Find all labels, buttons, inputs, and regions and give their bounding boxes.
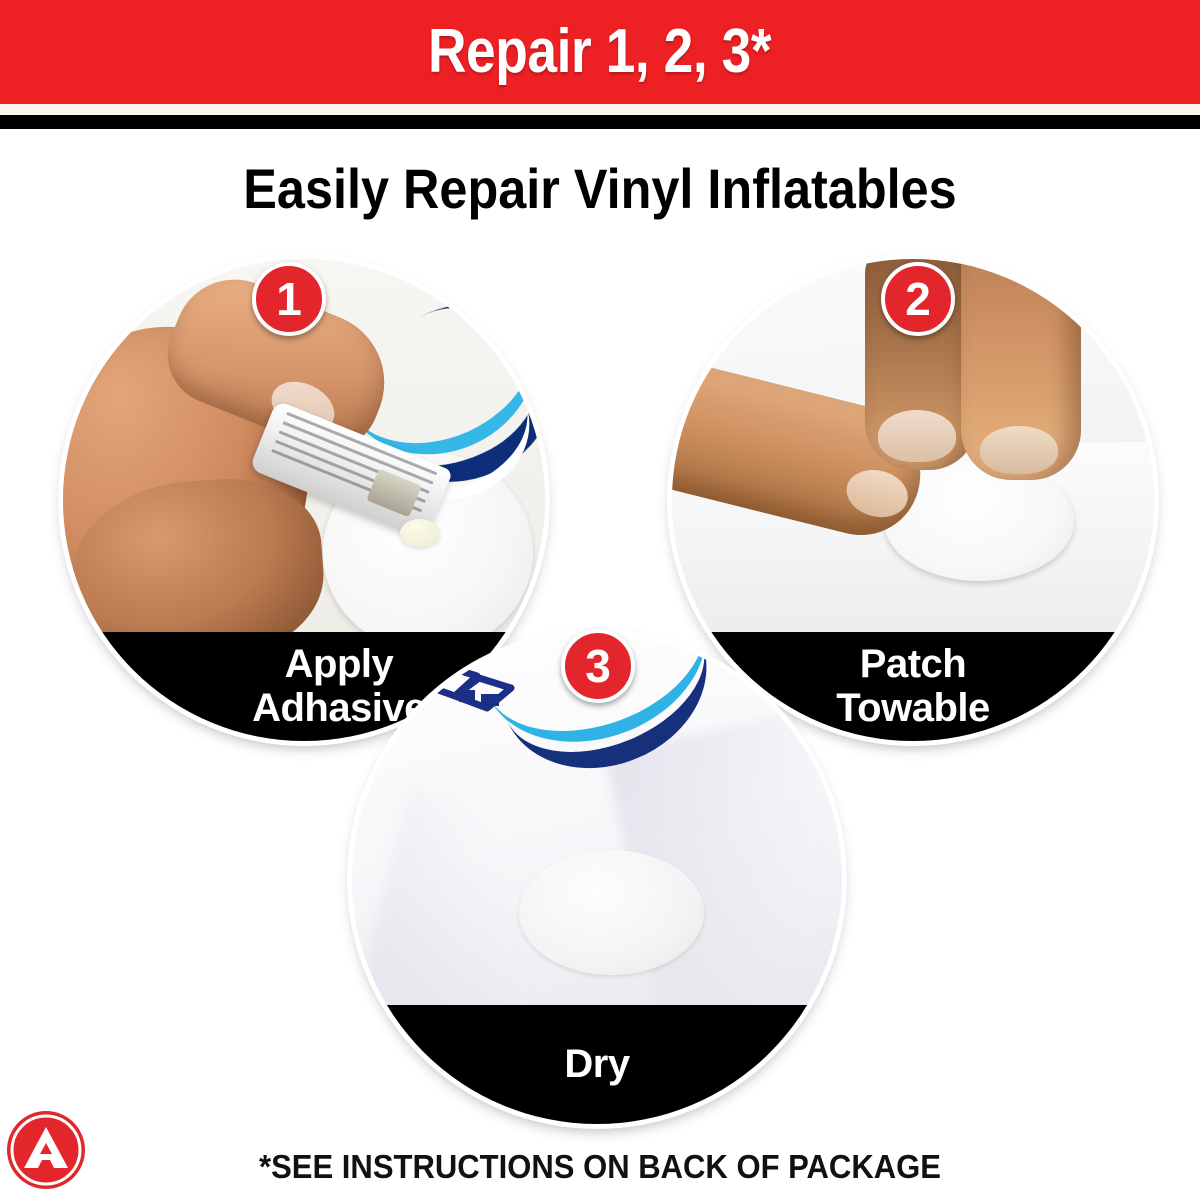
footer-note: *SEE INSTRUCTIONS ON BACK OF PACKAGE bbox=[36, 1148, 1164, 1186]
step-number-badge-3: 3 bbox=[561, 629, 635, 703]
step-card-3: Dry bbox=[352, 634, 842, 1124]
header-banner: Repair 1, 2, 3* bbox=[0, 0, 1200, 104]
product-logo-mark bbox=[411, 654, 541, 732]
step-3-label: Dry bbox=[564, 1043, 629, 1086]
infographic-page: Repair 1, 2, 3* Easily Repair Vinyl Infl… bbox=[0, 0, 1200, 1200]
step-2-label-line-1: Patch bbox=[860, 642, 966, 686]
header-gap-divider bbox=[0, 104, 1200, 115]
step-number-badge-2: 2 bbox=[881, 262, 955, 336]
header-black-rule bbox=[0, 115, 1200, 129]
fingernail bbox=[842, 464, 913, 524]
step-2-label: Patch Towable bbox=[836, 643, 990, 729]
step-2-label-line-2: Towable bbox=[836, 686, 990, 730]
dried-patch-disc bbox=[519, 850, 704, 975]
fingernail bbox=[878, 410, 956, 462]
fingernail bbox=[980, 426, 1058, 474]
logo-glyph-icon bbox=[411, 654, 541, 732]
ring-finger bbox=[961, 259, 1081, 480]
page-title: Repair 1, 2, 3* bbox=[428, 21, 771, 83]
step-3-label-band: Dry bbox=[352, 1005, 842, 1124]
subtitle: Easily Repair Vinyl Inflatables bbox=[60, 160, 1140, 219]
step-number-badge-1: 1 bbox=[252, 262, 326, 336]
